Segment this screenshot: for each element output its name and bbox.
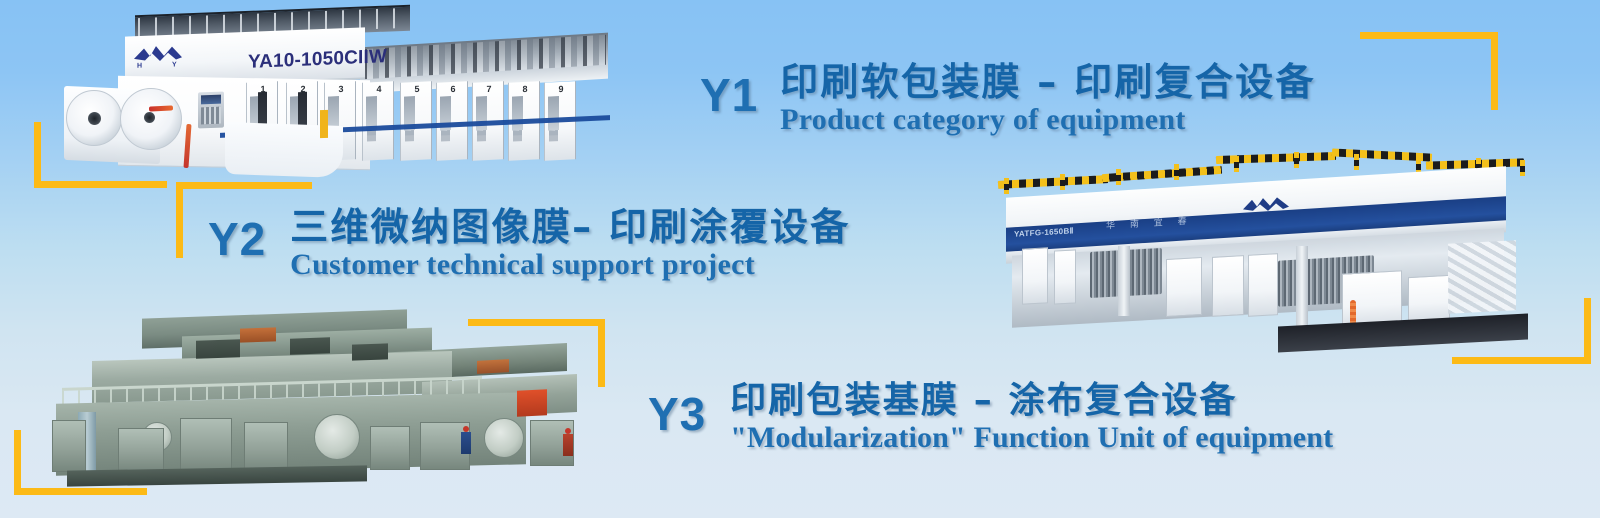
coater-cabinet bbox=[118, 428, 164, 472]
bracket-vertical-line bbox=[1491, 32, 1498, 110]
operator-body bbox=[461, 432, 471, 454]
coater-shadow-gap bbox=[290, 337, 330, 354]
paper-coating-line-image bbox=[22, 300, 587, 492]
laminator-cabinet bbox=[1212, 255, 1244, 317]
railing-post bbox=[1520, 160, 1525, 176]
entry-title-en-y1: Product category of equipment bbox=[780, 104, 1316, 136]
svg-text:H: H bbox=[137, 63, 142, 69]
entry-text-block: 三维微纳图像膜– 印刷涂覆设备 Customer technical suppo… bbox=[290, 207, 850, 281]
corner-bracket-decoration bbox=[1360, 32, 1502, 112]
bracket-vertical-line bbox=[1584, 298, 1591, 364]
press-reel-hub bbox=[88, 112, 101, 125]
railing-post bbox=[1234, 156, 1239, 172]
entry-key-y3: Y3 bbox=[648, 382, 706, 437]
press-operator-console bbox=[198, 92, 224, 129]
console-keypad bbox=[201, 107, 221, 125]
coating-laminator-image: 华 南 宜 春 YATFG-1650BⅡ bbox=[978, 150, 1538, 350]
entry-text-block: 印刷包装基膜 – 涂布复合设备 "Modularization" Functio… bbox=[730, 382, 1333, 453]
bracket-vertical-line bbox=[598, 319, 605, 387]
bracket-horizontal-line bbox=[1452, 357, 1591, 364]
railing-post bbox=[1174, 164, 1179, 180]
laminator-dark-base bbox=[1278, 313, 1528, 352]
promo-banner: 1 2 3 4 5 6 7 8 bbox=[0, 0, 1600, 518]
press-unit-panel bbox=[512, 96, 523, 131]
entry-title-en-y3: "Modularization" Function Unit of equipm… bbox=[730, 422, 1333, 454]
press-color-unit: 4 bbox=[362, 81, 394, 161]
laminator-cabinet bbox=[1248, 253, 1278, 317]
press-unit-number: 6 bbox=[437, 83, 469, 95]
press-unit-number: 8 bbox=[509, 83, 541, 95]
coater-shadow-gap bbox=[352, 343, 388, 360]
operator-body bbox=[563, 434, 573, 456]
coater-cabinet bbox=[180, 418, 232, 472]
coater-orange-module bbox=[477, 359, 509, 374]
entry-text-block: 印刷软包装膜 – 印刷复合设备 Product category of equi… bbox=[780, 62, 1316, 136]
laminator-access-stairs bbox=[1448, 240, 1516, 314]
coater-cabinet bbox=[370, 426, 410, 470]
railing-post bbox=[1116, 169, 1121, 185]
entry-key-y2: Y2 bbox=[208, 207, 266, 262]
press-reel-hub bbox=[144, 112, 155, 123]
bracket-vertical-line bbox=[14, 430, 21, 494]
product-entry-y1: Y1 印刷软包装膜 – 印刷复合设备 Product category of e… bbox=[700, 62, 1316, 136]
press-yellow-indicator bbox=[320, 110, 328, 138]
entry-title-cn-y2: 三维微纳图像膜– 印刷涂覆设备 bbox=[290, 207, 850, 248]
press-unit-number: 7 bbox=[473, 83, 505, 95]
operator-figure bbox=[460, 426, 472, 456]
coater-roll bbox=[314, 414, 360, 460]
coater-cabinet bbox=[52, 420, 86, 472]
laminator-cabinet bbox=[1166, 257, 1202, 317]
coater-shadow-gap bbox=[196, 339, 240, 359]
press-color-unit: 5 bbox=[400, 81, 432, 161]
railing-post bbox=[1354, 154, 1359, 170]
laminator-support-leg bbox=[1118, 246, 1130, 316]
entry-title-en-y2: Customer technical support project bbox=[290, 249, 850, 281]
laminator-support-leg bbox=[1296, 246, 1308, 330]
entry-key-y1: Y1 bbox=[700, 62, 758, 118]
press-unit-number: 5 bbox=[401, 83, 433, 95]
laminator-cabinet bbox=[1054, 249, 1076, 304]
press-unit-number: 9 bbox=[545, 83, 577, 95]
railing-post bbox=[1294, 152, 1299, 168]
press-unit-number: 3 bbox=[325, 83, 357, 95]
console-screen bbox=[201, 95, 221, 105]
manufacturer-logo-icon: H Y bbox=[130, 43, 190, 69]
manufacturer-logo-icon bbox=[1240, 194, 1292, 217]
coater-cabinet bbox=[244, 422, 288, 472]
coater-orange-module bbox=[240, 327, 276, 342]
press-unit-panel bbox=[548, 96, 559, 131]
coater-orange-module bbox=[517, 389, 547, 417]
entry-title-cn-y1: 印刷软包装膜 – 印刷复合设备 bbox=[780, 62, 1316, 103]
railing-segment bbox=[998, 175, 1108, 189]
product-entry-y2: Y2 三维微纳图像膜– 印刷涂覆设备 Customer technical su… bbox=[208, 207, 851, 281]
entry-title-cn-y3: 印刷包装基膜 – 涂布复合设备 bbox=[730, 382, 1333, 421]
press-unit-number: 4 bbox=[363, 83, 395, 95]
railing-post bbox=[1004, 178, 1009, 194]
rotogravure-press-image: 1 2 3 4 5 6 7 8 bbox=[30, 6, 610, 184]
laminator-cabinet bbox=[1022, 247, 1048, 304]
coater-roll bbox=[484, 418, 524, 458]
laminator-cabinet bbox=[1408, 275, 1450, 323]
railing-post bbox=[1060, 174, 1065, 190]
bracket-horizontal-line bbox=[1360, 32, 1498, 39]
product-entry-y3: Y3 印刷包装基膜 – 涂布复合设备 "Modularization" Func… bbox=[648, 382, 1333, 453]
bracket-vertical-line bbox=[176, 182, 183, 258]
operator-figure bbox=[562, 428, 574, 456]
